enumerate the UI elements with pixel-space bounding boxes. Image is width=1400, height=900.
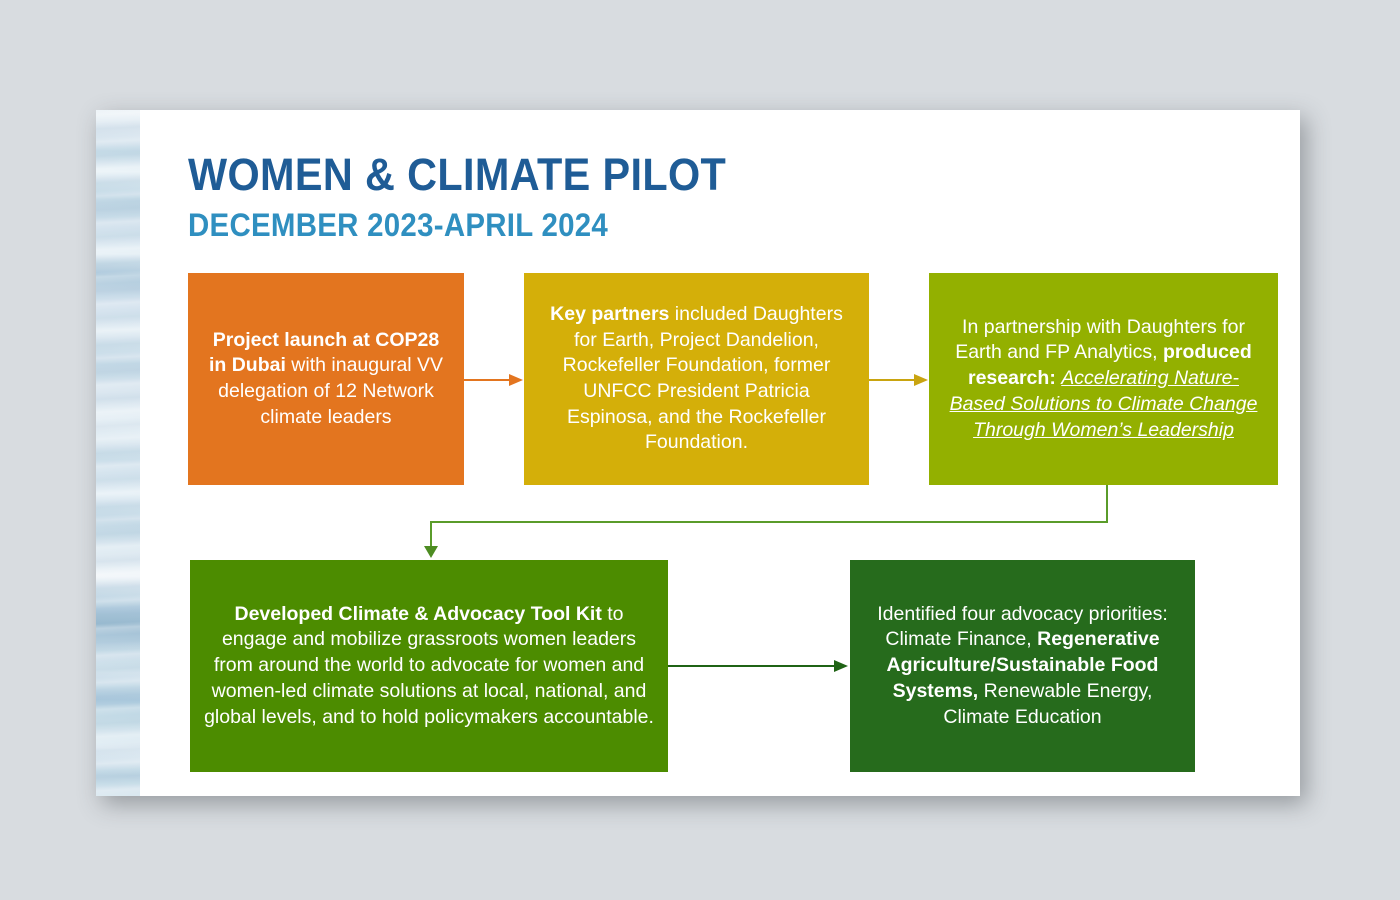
flow-box-produced-research: In partnership with Daughters for Earth … [929,273,1278,485]
slide-canvas: WOMEN & CLIMATE PILOT DECEMBER 2023-APRI… [96,110,1300,796]
arrow-line [464,379,512,381]
title-block: WOMEN & CLIMATE PILOT DECEMBER 2023-APRI… [188,152,773,241]
flow-box-toolkit-text: Developed Climate & Advocacy Tool Kit to… [204,602,654,731]
flow-box-partners-rest: included Daughters for Earth, Project Da… [563,303,843,454]
flow-box-cop28-text: Project launch at COP28 in Dubai with in… [202,328,450,431]
flow-box-partners-bold-lead: Key partners [550,303,669,325]
arrow-segment-vertical-left [430,521,432,549]
flow-box-advocacy-tool-kit: Developed Climate & Advocacy Tool Kit to… [190,560,668,772]
arrow-head-icon [834,660,848,672]
arrow-toolkit-to-priorities [668,660,850,672]
arrow-head-icon [914,374,928,386]
flow-box-cop28-launch: Project launch at COP28 in Dubai with in… [188,273,464,485]
arrow-cop28-to-partners [464,374,524,386]
flow-box-partners-text: Key partners included Daughters for Eart… [538,302,855,456]
arrow-head-icon [424,546,438,558]
flow-box-research-text: In partnership with Daughters for Earth … [943,315,1264,444]
flow-box-toolkit-bold-lead: Developed Climate & Advocacy Tool Kit [234,603,601,625]
flow-box-key-partners: Key partners included Daughters for Eart… [524,273,869,485]
arrow-line [668,665,838,667]
flow-box-advocacy-priorities: Identified four advocacy priorities: Cli… [850,560,1195,772]
ice-water-photo-strip [96,110,140,796]
arrow-segment-horizontal [430,521,1108,523]
arrow-partners-to-research [869,374,929,386]
page-title: WOMEN & CLIMATE PILOT [188,152,726,197]
arrow-segment-vertical-right [1106,485,1108,523]
page-subtitle: DECEMBER 2023-APRIL 2024 [188,209,726,241]
arrow-line [869,379,917,381]
flow-box-priorities-text: Identified four advocacy priorities: Cli… [864,602,1181,731]
arrow-head-icon [509,374,523,386]
